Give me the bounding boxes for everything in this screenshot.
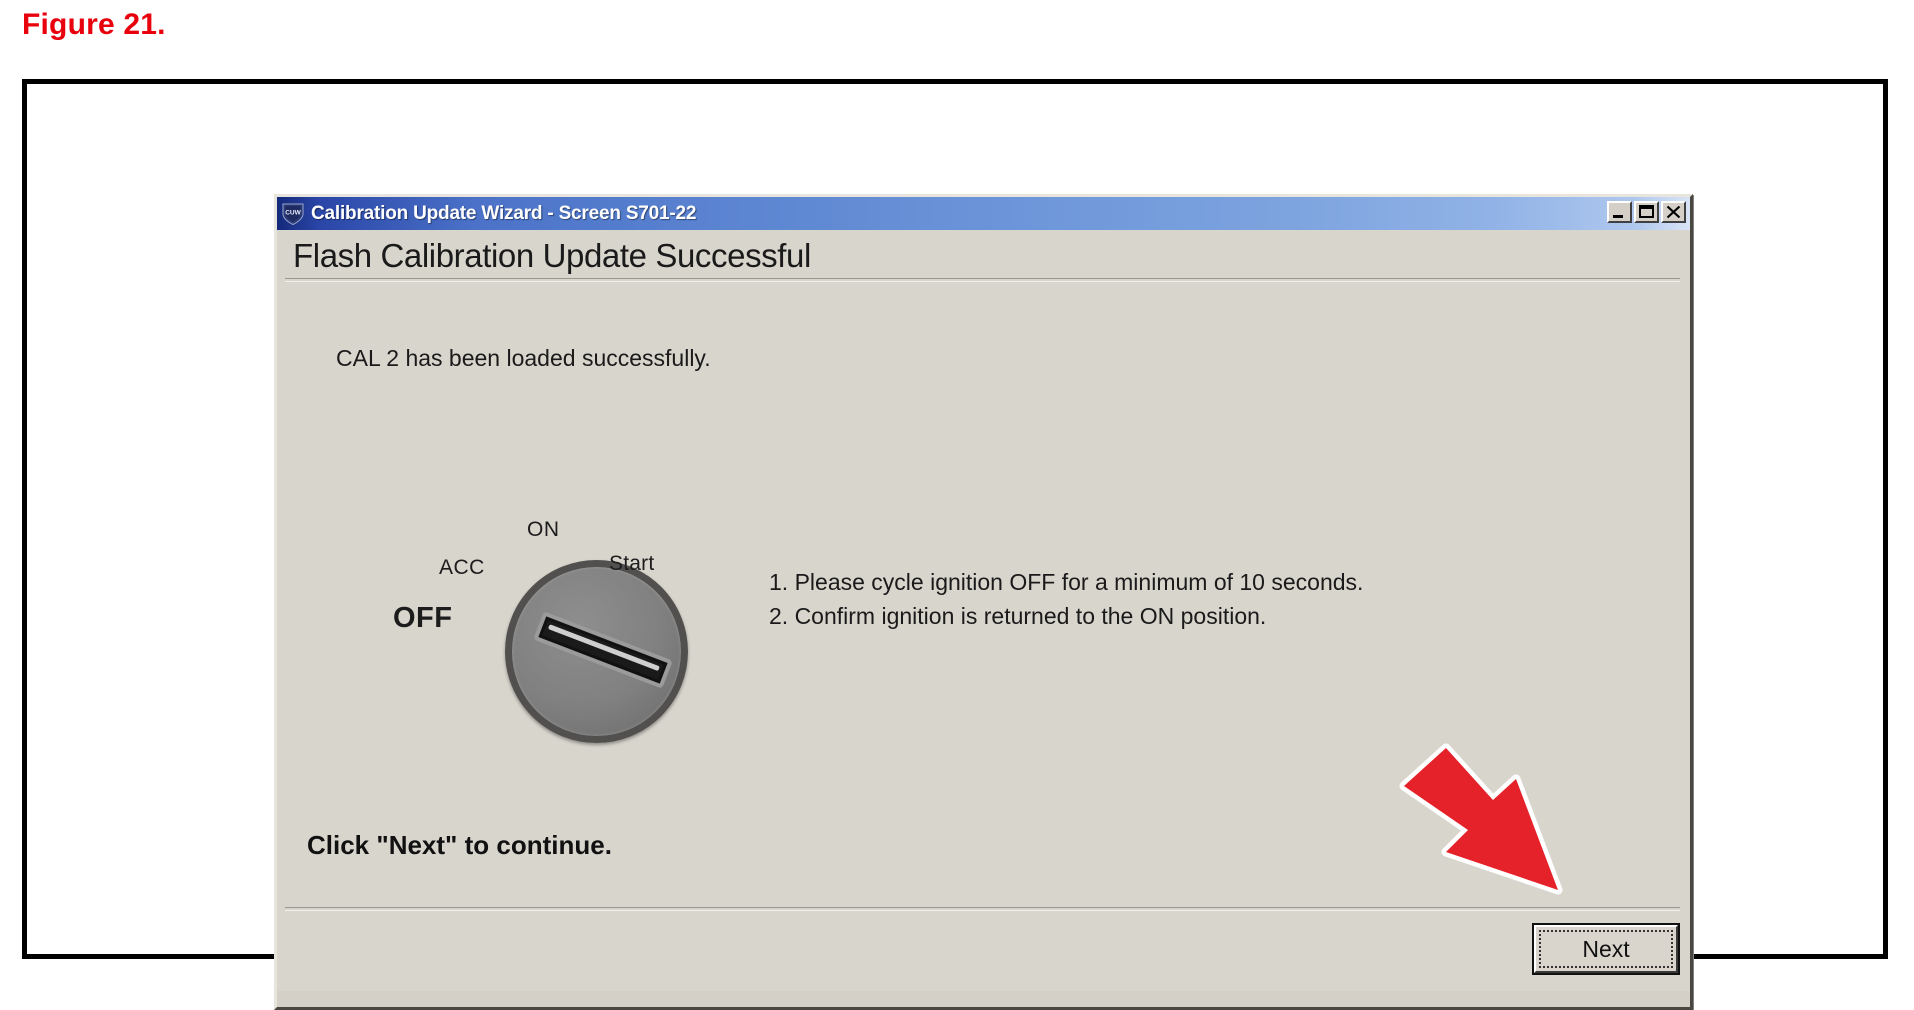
wizard-content-area: CAL 2 has been loaded successfully. OFF … xyxy=(277,282,1690,907)
figure-caption: Figure 21. xyxy=(22,8,166,42)
window-controls xyxy=(1607,201,1686,223)
cuw-shield-icon: CUW xyxy=(281,202,305,226)
click-next-note: Click "Next" to continue. xyxy=(307,830,612,861)
window-title-text: Calibration Update Wizard - Screen S701-… xyxy=(311,203,696,225)
minimize-button[interactable] xyxy=(1607,201,1632,223)
next-button-label: Next xyxy=(1582,936,1629,963)
page-title: Flash Calibration Update Successful xyxy=(293,236,1690,276)
next-button[interactable]: Next xyxy=(1534,925,1678,973)
footer-divider xyxy=(285,907,1680,911)
figure-frame: CUW Calibration Update Wizard - Screen S… xyxy=(22,79,1888,959)
instruction-list: 1. Please cycle ignition OFF for a minim… xyxy=(769,565,1363,633)
instruction-item: 2. Confirm ignition is returned to the O… xyxy=(769,599,1363,633)
instruction-item: 1. Please cycle ignition OFF for a minim… xyxy=(769,565,1363,599)
ignition-label-start: Start xyxy=(609,552,654,576)
maximize-button[interactable] xyxy=(1634,201,1659,223)
ignition-dial xyxy=(505,560,688,743)
svg-text:CUW: CUW xyxy=(285,209,301,216)
ignition-label-acc: ACC xyxy=(439,556,485,580)
wizard-footer: Next xyxy=(277,907,1690,991)
calibration-update-wizard-window: CUW Calibration Update Wizard - Screen S… xyxy=(274,194,1693,1010)
ignition-label-off: OFF xyxy=(393,602,453,635)
page-heading-band: Flash Calibration Update Successful xyxy=(277,230,1690,282)
ignition-label-on: ON xyxy=(527,518,560,542)
ignition-keyslot xyxy=(533,611,673,688)
window-title-bar[interactable]: CUW Calibration Update Wizard - Screen S… xyxy=(277,197,1690,230)
close-button[interactable] xyxy=(1661,201,1686,223)
ignition-switch-diagram: OFF ACC ON Start xyxy=(387,512,717,747)
success-message: CAL 2 has been loaded successfully. xyxy=(336,345,711,372)
